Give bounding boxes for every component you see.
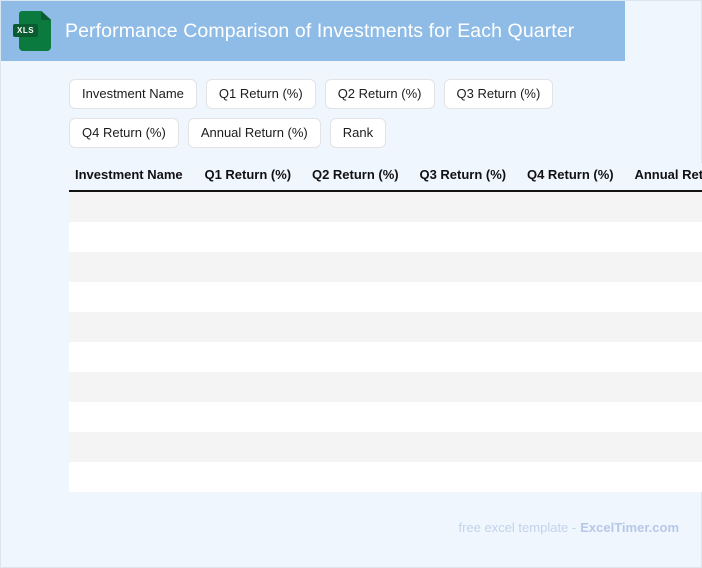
table-cell[interactable] [306,191,414,222]
table-cell[interactable] [521,191,629,222]
table-cell[interactable] [521,282,629,312]
table-cell[interactable] [69,462,198,492]
table-cell[interactable] [306,402,414,432]
table-cell[interactable] [69,191,198,222]
table-cell[interactable] [69,372,198,402]
table-cell[interactable] [521,252,629,282]
table-cell[interactable] [628,191,702,222]
page-title: Performance Comparison of Investments fo… [65,20,574,43]
table-cell[interactable] [69,222,198,252]
table-cell[interactable] [628,462,702,492]
table-cell[interactable] [628,222,702,252]
table-row[interactable] [69,282,702,312]
table-cell[interactable] [413,342,521,372]
table-cell[interactable] [521,462,629,492]
table-cell[interactable] [198,402,306,432]
table-column-header[interactable]: Q4 Return (%) [521,163,629,191]
table-cell[interactable] [306,222,414,252]
table-cell[interactable] [198,282,306,312]
table-cell[interactable] [306,312,414,342]
table-cell[interactable] [198,372,306,402]
xls-file-icon: XLS [19,11,51,51]
table-cell[interactable] [69,252,198,282]
table-column-header[interactable]: Investment Name [69,163,198,191]
table-cell[interactable] [413,402,521,432]
column-chip[interactable]: Rank [330,118,386,148]
table-body [69,191,702,492]
table-row[interactable] [69,372,702,402]
table-row[interactable] [69,462,702,492]
table-cell[interactable] [306,282,414,312]
table-cell[interactable] [413,312,521,342]
table-row[interactable] [69,432,702,462]
page-header-banner: XLS Performance Comparison of Investment… [1,1,625,61]
table-cell[interactable] [198,222,306,252]
table-cell[interactable] [521,222,629,252]
table-cell[interactable] [306,372,414,402]
table-row[interactable] [69,402,702,432]
table-cell[interactable] [413,432,521,462]
table-cell[interactable] [198,252,306,282]
investment-performance-table: Investment NameQ1 Return (%)Q2 Return (%… [69,163,702,492]
table-head: Investment NameQ1 Return (%)Q2 Return (%… [69,163,702,191]
table-row[interactable] [69,252,702,282]
footer-brand-link[interactable]: ExcelTimer.com [580,520,679,535]
table-cell[interactable] [413,222,521,252]
table-cell[interactable] [69,342,198,372]
column-chip[interactable]: Q1 Return (%) [206,79,316,109]
table-cell[interactable] [198,191,306,222]
footer-text: free excel template - [458,520,576,535]
table-cell[interactable] [628,372,702,402]
table-cell[interactable] [521,372,629,402]
data-table-container: Investment NameQ1 Return (%)Q2 Return (%… [69,163,702,492]
xls-icon-badge-label: XLS [13,24,38,37]
footer-attribution: free excel template -ExcelTimer.com [458,520,679,535]
table-column-header[interactable]: Q1 Return (%) [198,163,306,191]
table-cell[interactable] [306,432,414,462]
table-cell[interactable] [69,432,198,462]
table-row[interactable] [69,222,702,252]
table-cell[interactable] [521,342,629,372]
table-cell[interactable] [69,312,198,342]
table-cell[interactable] [306,462,414,492]
column-chip[interactable]: Annual Return (%) [188,118,321,148]
table-cell[interactable] [306,252,414,282]
table-cell[interactable] [521,432,629,462]
table-header-row: Investment NameQ1 Return (%)Q2 Return (%… [69,163,702,191]
column-chip-list: Investment NameQ1 Return (%)Q2 Return (%… [1,61,621,148]
table-cell[interactable] [69,402,198,432]
table-column-header[interactable]: Annual Return (%) [628,163,702,191]
table-cell[interactable] [198,462,306,492]
table-row[interactable] [69,312,702,342]
table-cell[interactable] [413,282,521,312]
table-cell[interactable] [413,252,521,282]
table-cell[interactable] [198,432,306,462]
table-column-header[interactable]: Q3 Return (%) [413,163,521,191]
column-chip[interactable]: Q4 Return (%) [69,118,179,148]
table-cell[interactable] [198,342,306,372]
table-cell[interactable] [306,342,414,372]
table-cell[interactable] [521,312,629,342]
table-cell[interactable] [413,191,521,222]
table-cell[interactable] [628,282,702,312]
column-chip[interactable]: Q2 Return (%) [325,79,435,109]
column-chip[interactable]: Q3 Return (%) [444,79,554,109]
table-column-header[interactable]: Q2 Return (%) [306,163,414,191]
table-cell[interactable] [628,252,702,282]
column-chip[interactable]: Investment Name [69,79,197,109]
table-cell[interactable] [628,312,702,342]
table-cell[interactable] [413,462,521,492]
table-row[interactable] [69,342,702,372]
table-cell[interactable] [69,282,198,312]
table-row[interactable] [69,191,702,222]
table-cell[interactable] [521,402,629,432]
table-cell[interactable] [198,312,306,342]
table-cell[interactable] [628,342,702,372]
table-cell[interactable] [628,402,702,432]
table-cell[interactable] [413,372,521,402]
xls-icon-fold [41,11,51,20]
table-cell[interactable] [628,432,702,462]
